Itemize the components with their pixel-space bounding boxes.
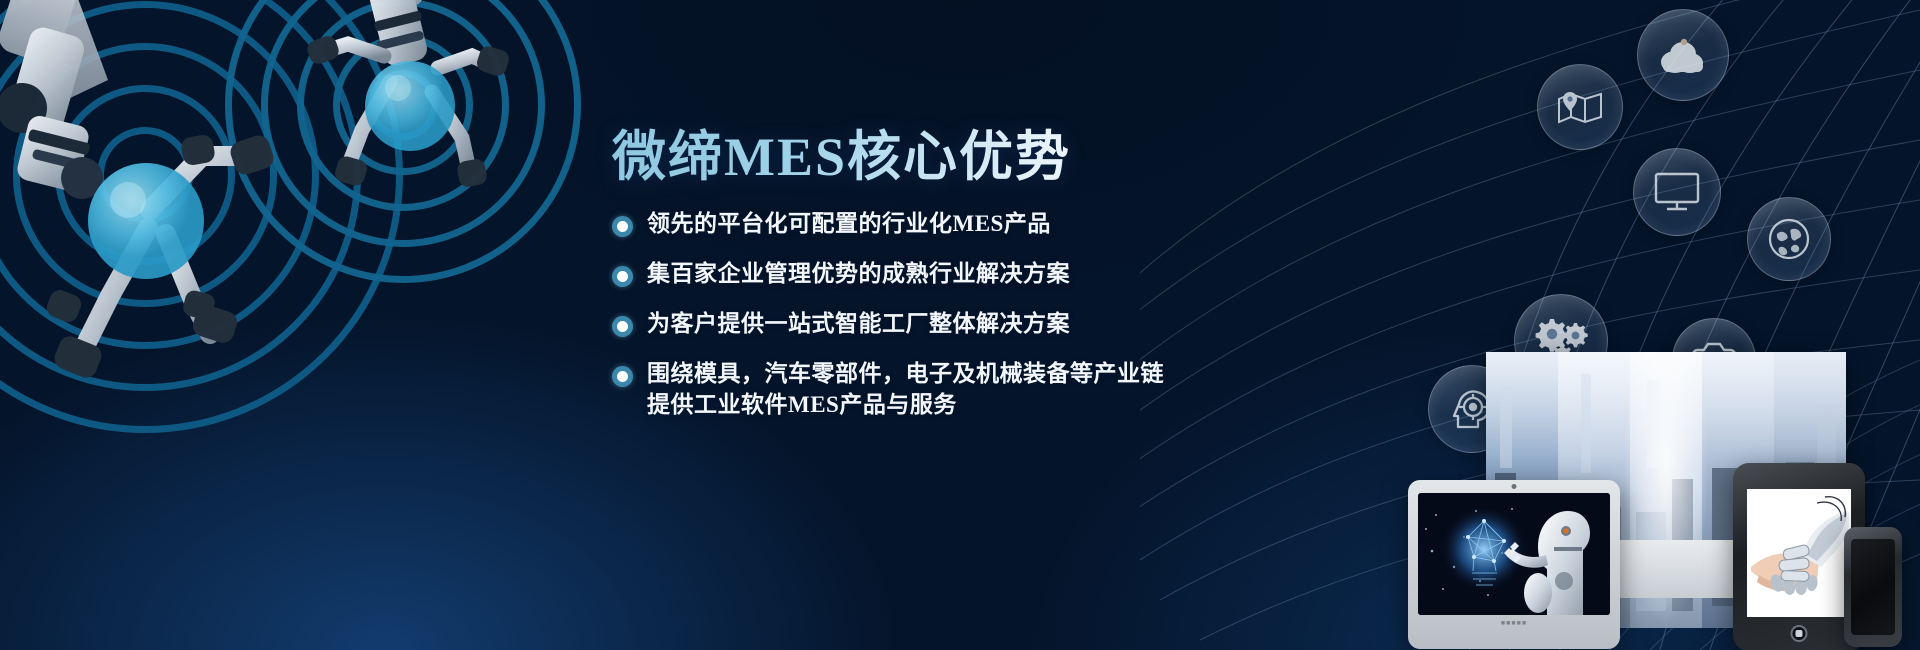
list-item: 围绕模具，汽车零部件，电子及机械装备等产业链 提供工业软件MES产品与服务 (612, 359, 1312, 421)
bullet-text: 领先的平台化可配置的行业化MES产品 (647, 209, 1051, 240)
list-item: 集百家企业管理优势的成熟行业解决方案 (612, 259, 1312, 290)
laptop-screen (1418, 493, 1610, 615)
bullet-text: 为客户提供一站式智能工厂整体解决方案 (647, 309, 1070, 340)
apple-logo-icon:  (1656, 556, 1676, 582)
smartphone[interactable] (1844, 527, 1902, 647)
map-pin-icon (1556, 90, 1604, 124)
text-content: 微缔MES核心优势 领先的平台化可配置的行业化MES产品 集百家企业管理优势的成… (612, 128, 1312, 439)
monitor-icon (1653, 171, 1701, 213)
bullet-text-multiline: 围绕模具，汽车零部件，电子及机械装备等产业链 提供工业软件MES产品与服务 (647, 359, 1164, 421)
tablet-home-button[interactable] (1791, 625, 1808, 642)
globe-icon-bubble[interactable] (1747, 197, 1831, 281)
bullet-text-line2: 提供工业软件MES产品与服务 (647, 390, 1164, 421)
bullet-dot-icon (612, 366, 633, 387)
bullet-text-line1: 围绕模具，汽车零部件，电子及机械装备等产业链 (647, 361, 1164, 386)
bullet-dot-icon (612, 316, 633, 337)
mes-advantages-banner:  (0, 0, 1920, 650)
cloud-icon (1657, 35, 1709, 75)
advantages-list: 领先的平台化可配置的行业化MES产品 集百家企业管理优势的成熟行业解决方案 为客… (612, 209, 1312, 420)
list-item: 为客户提供一站式智能工厂整体解决方案 (612, 309, 1312, 340)
phone-screen (1851, 539, 1895, 635)
bullet-text: 集百家企业管理优势的成熟行业解决方案 (647, 259, 1070, 290)
robot-arm-svg (0, 0, 590, 520)
laptop[interactable]: ■■■■■ (1408, 480, 1620, 649)
laptop-brand-label: ■■■■■ (1418, 620, 1610, 627)
robot-lightbulb-illustration (1418, 493, 1610, 615)
laptop-lid: ■■■■■ (1408, 480, 1620, 649)
bullet-dot-icon (612, 266, 633, 287)
robot-handshake-illustration (1747, 489, 1851, 617)
bullet-dot-icon (612, 216, 633, 237)
map-icon-bubble[interactable] (1537, 64, 1623, 150)
robot-arms-graphic (0, 0, 590, 520)
cloud-icon-bubble[interactable] (1637, 9, 1729, 101)
tablet-screen (1747, 489, 1851, 617)
laptop-camera-icon (1512, 484, 1517, 489)
monitor-icon-bubble[interactable] (1633, 148, 1721, 236)
phone-body (1844, 527, 1902, 647)
page-title: 微缔MES核心优势 (612, 128, 1312, 187)
list-item: 领先的平台化可配置的行业化MES产品 (612, 209, 1312, 240)
globe-icon (1766, 216, 1812, 262)
